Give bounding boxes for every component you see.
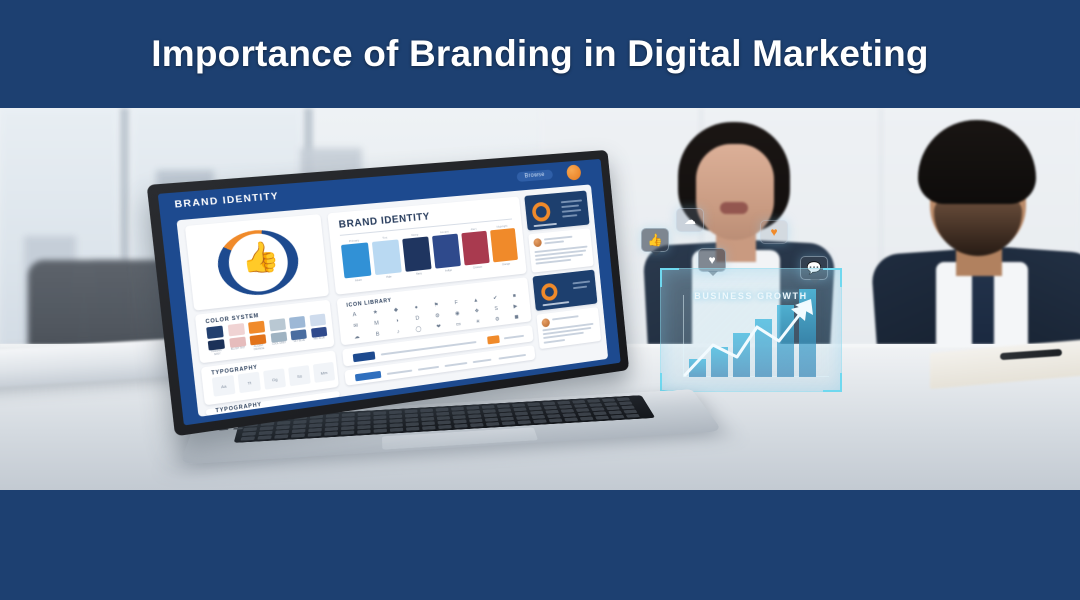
color-top (227, 323, 244, 336)
key[interactable] (513, 407, 526, 411)
icon-cell[interactable]: F (452, 299, 460, 308)
icon-cell[interactable]: M (372, 319, 381, 328)
icon-cell[interactable]: ✔ (491, 294, 499, 303)
icon-cell[interactable]: ◼ (513, 313, 521, 322)
typography-tile[interactable]: Mm (313, 362, 335, 383)
brand-dashboard: BRAND IDENTITY Browse 👍 (158, 159, 621, 426)
key[interactable] (576, 408, 590, 412)
color-label: COOL GREY (271, 342, 287, 347)
slide-canvas: 👍 ☁ ♥ ♥ 💬 (0, 0, 1080, 600)
key[interactable] (485, 418, 499, 422)
avatar[interactable] (566, 164, 582, 180)
typography-tile[interactable]: Tt (238, 372, 261, 394)
key[interactable] (276, 425, 290, 429)
icon-cell[interactable]: ★ (371, 308, 380, 317)
key[interactable] (324, 432, 338, 436)
key[interactable] (580, 417, 594, 421)
color-group[interactable]: COOL GREY (269, 318, 288, 347)
key[interactable] (531, 415, 545, 419)
icon-cell[interactable]: B (373, 330, 382, 339)
key[interactable] (468, 414, 481, 418)
text-line (381, 341, 477, 355)
key[interactable] (626, 414, 640, 418)
swatch-chip[interactable] (490, 228, 518, 262)
color-top (206, 326, 224, 339)
key[interactable] (342, 417, 355, 421)
icon-cell[interactable]: ⚙ (493, 315, 501, 324)
key[interactable] (259, 426, 273, 430)
orange-ring-icon (531, 201, 551, 222)
card-text-line (562, 214, 577, 217)
color-label: MID BLUE (312, 337, 328, 342)
key[interactable] (516, 416, 530, 420)
logo-card: 👍 (185, 214, 329, 311)
key[interactable] (502, 421, 516, 425)
text-line (445, 362, 468, 367)
key[interactable] (564, 417, 578, 421)
card-text-line (562, 209, 581, 212)
icon-cell[interactable]: ♪ (394, 328, 403, 337)
lips (720, 202, 748, 214)
color-group[interactable]: MID BLUE (309, 314, 327, 342)
icon-cell[interactable]: ◑ (393, 317, 402, 326)
key[interactable] (325, 423, 338, 427)
key[interactable] (309, 423, 323, 427)
key[interactable] (390, 428, 403, 432)
key[interactable] (623, 410, 637, 414)
key[interactable] (545, 410, 559, 414)
dashboard-body: 👍 BRAND IDENTITY PrimaryAzureTintPaleDee… (176, 184, 608, 417)
key[interactable] (606, 406, 620, 410)
key[interactable] (562, 413, 576, 417)
key[interactable] (389, 415, 402, 419)
text-line (544, 236, 572, 240)
key[interactable] (453, 420, 467, 424)
key[interactable] (405, 414, 418, 418)
color-bottom (310, 326, 326, 337)
swatch-chip[interactable] (461, 231, 489, 266)
key[interactable] (341, 422, 354, 426)
icon-cell[interactable]: S (492, 305, 500, 314)
icon-cell[interactable]: D (413, 314, 422, 323)
key[interactable] (308, 428, 322, 432)
key[interactable] (406, 422, 419, 426)
key[interactable] (437, 416, 450, 420)
color-top (248, 321, 265, 334)
color-group[interactable]: PRIMARY NAVY (206, 326, 226, 358)
color-label: ACCENT ORANGE (251, 344, 268, 352)
icon-cell[interactable]: ◯ (414, 325, 423, 334)
key[interactable] (373, 415, 386, 419)
holo-corner-icon (823, 268, 842, 287)
icon-cell[interactable]: ❤ (434, 323, 442, 332)
card-text-line (534, 223, 557, 227)
key[interactable] (243, 427, 257, 431)
icon-cell[interactable]: ◉ (453, 309, 461, 318)
key[interactable] (486, 422, 500, 426)
browse-button[interactable]: Browse (516, 169, 553, 182)
key[interactable] (591, 407, 605, 411)
typography-tile[interactable]: Gg (263, 368, 286, 389)
swatch-chip[interactable] (341, 242, 371, 278)
icon-cell[interactable]: ⚙ (433, 312, 441, 321)
icon-cell[interactable]: ■ (510, 292, 518, 301)
key[interactable] (358, 416, 371, 420)
color-swatch[interactable]: AlertCrimson (461, 227, 490, 271)
swatch-chip[interactable] (402, 236, 431, 271)
swatch-name: Navy (406, 271, 432, 278)
post-card-1 (528, 228, 594, 273)
key[interactable] (452, 411, 465, 415)
key[interactable] (530, 411, 544, 415)
icon-cell[interactable]: ✉ (351, 322, 360, 331)
key[interactable] (549, 418, 563, 422)
key[interactable] (547, 414, 561, 418)
key[interactable] (293, 420, 307, 424)
swatch-chip[interactable] (432, 234, 461, 269)
key[interactable] (308, 432, 322, 436)
key[interactable] (274, 434, 288, 438)
icon-cell[interactable]: ● (412, 303, 421, 312)
color-group[interactable]: ACCENT ORANGE (248, 321, 267, 353)
key[interactable] (438, 425, 452, 429)
swatch-name: Pale (376, 274, 403, 281)
card-text-line (573, 280, 591, 284)
key[interactable] (389, 419, 402, 423)
icon-cell[interactable]: A (350, 311, 359, 320)
key[interactable] (595, 416, 609, 420)
icon-cell[interactable]: ▶ (511, 302, 519, 311)
color-swatch[interactable]: PrimaryAzure (341, 238, 373, 284)
color-swatch[interactable]: TintPale (371, 235, 402, 281)
color-label: PRIMARY NAVY (209, 350, 226, 358)
key[interactable] (258, 431, 272, 435)
laptop-lid: BRAND IDENTITY Browse 👍 (147, 150, 630, 437)
color-top (289, 316, 306, 329)
swatch-name: Azure (345, 278, 372, 285)
color-bottom (270, 331, 287, 342)
color-bottom (208, 339, 225, 350)
color-top (269, 318, 286, 331)
key[interactable] (374, 424, 387, 428)
key[interactable] (533, 419, 547, 423)
swatch-name: Orange (494, 262, 519, 269)
key[interactable] (357, 425, 370, 429)
dashboard-brand-label: BRAND IDENTITY (174, 191, 279, 211)
key[interactable] (374, 429, 387, 433)
typography-title-4: TYPOGRAPHY (215, 402, 262, 415)
scene-photo: 👍 ☁ ♥ ♥ 💬 (0, 108, 1080, 490)
key[interactable] (374, 420, 387, 424)
key[interactable] (437, 420, 450, 424)
swatch-name: Crimson (465, 265, 490, 272)
typography-tile[interactable]: Ss (288, 365, 311, 386)
laptop: BRAND IDENTITY Browse 👍 (170, 166, 710, 466)
key[interactable] (257, 435, 271, 439)
text-line (499, 354, 526, 359)
color-bottom (249, 334, 266, 345)
orange-ring-icon (541, 282, 559, 301)
key[interactable] (515, 412, 529, 416)
key[interactable] (484, 413, 497, 417)
footer-band (0, 490, 1080, 600)
key[interactable] (578, 412, 592, 416)
key[interactable] (390, 423, 403, 427)
page-title: Importance of Branding in Digital Market… (0, 0, 1080, 108)
color-bottom (229, 336, 246, 347)
color-bottom (290, 329, 306, 340)
typography-tile[interactable]: Aa (212, 375, 236, 397)
key[interactable] (292, 429, 306, 433)
text-line (473, 359, 492, 363)
card-text-line (573, 286, 587, 289)
key[interactable] (357, 421, 370, 425)
key[interactable] (517, 420, 531, 424)
icon-cell[interactable]: ▭ (454, 320, 462, 329)
icon-cell[interactable]: ◆ (392, 306, 401, 315)
key[interactable] (292, 424, 306, 428)
key[interactable] (241, 436, 256, 440)
color-label: BLUSH TINT (230, 347, 246, 352)
text-line (544, 339, 565, 343)
heart-orange-glyph: ♥ (770, 225, 777, 239)
text-line (504, 335, 524, 339)
swatch-chip[interactable] (372, 239, 402, 275)
icon-cell[interactable]: ⚑ (432, 301, 440, 310)
color-label: SKY BLUE (292, 339, 308, 344)
icon-library-title: ICON LIBRARY (346, 298, 392, 309)
swatch-name: Indigo (436, 268, 462, 275)
key[interactable] (453, 415, 466, 419)
key[interactable] (341, 426, 354, 430)
key[interactable] (454, 424, 468, 428)
key[interactable] (421, 413, 434, 417)
text-line (552, 315, 579, 320)
heart-orange-icon: ♥ (760, 220, 788, 244)
card-text-line (543, 301, 570, 306)
card-text-line (561, 199, 582, 202)
text-line (544, 240, 564, 243)
key[interactable] (291, 433, 305, 437)
key[interactable] (406, 427, 419, 431)
icon-cell[interactable]: ▲ (472, 296, 480, 305)
hair (918, 120, 1036, 204)
icon-cell[interactable]: ☀ (474, 318, 482, 327)
business-card-mockup-2 (532, 270, 597, 311)
color-top (309, 314, 326, 327)
text-line (387, 370, 412, 375)
key[interactable] (561, 409, 575, 413)
key[interactable] (242, 432, 256, 436)
key[interactable] (499, 412, 513, 416)
thumbs-up-icon: 👍 (239, 241, 279, 280)
avatar (533, 238, 542, 247)
key[interactable] (275, 430, 289, 434)
key[interactable] (608, 411, 622, 415)
type-chip-navy (353, 351, 376, 362)
color-swatch[interactable]: HighlightOrange (490, 224, 519, 268)
laptop-screen[interactable]: BRAND IDENTITY Browse 👍 (158, 159, 621, 426)
key[interactable] (469, 419, 483, 423)
key[interactable] (421, 417, 434, 421)
icon-cell[interactable]: ❖ (473, 307, 481, 316)
avatar (541, 318, 550, 328)
key[interactable] (500, 417, 514, 421)
color-swatch[interactable]: AccentIndigo (432, 230, 462, 275)
color-group[interactable]: BLUSH TINT (227, 323, 246, 352)
key[interactable] (621, 405, 635, 409)
key[interactable] (470, 423, 484, 427)
key[interactable] (593, 411, 607, 415)
key[interactable] (405, 418, 418, 422)
color-swatch[interactable]: DeepNavy (402, 233, 432, 278)
type-chip-orange (487, 335, 500, 344)
key[interactable] (610, 415, 624, 419)
post-card-2 (536, 307, 601, 349)
business-card-mockup-1 (524, 191, 589, 231)
type-chip-blue (355, 371, 381, 382)
card-text-line (561, 205, 579, 208)
key[interactable] (341, 431, 354, 435)
key[interactable] (422, 426, 436, 430)
icon-cell[interactable]: ☁ (353, 333, 362, 342)
key[interactable] (422, 421, 435, 425)
text-line (418, 366, 439, 370)
key[interactable] (357, 430, 370, 434)
color-group[interactable]: SKY BLUE (289, 316, 307, 345)
key[interactable] (325, 427, 339, 431)
